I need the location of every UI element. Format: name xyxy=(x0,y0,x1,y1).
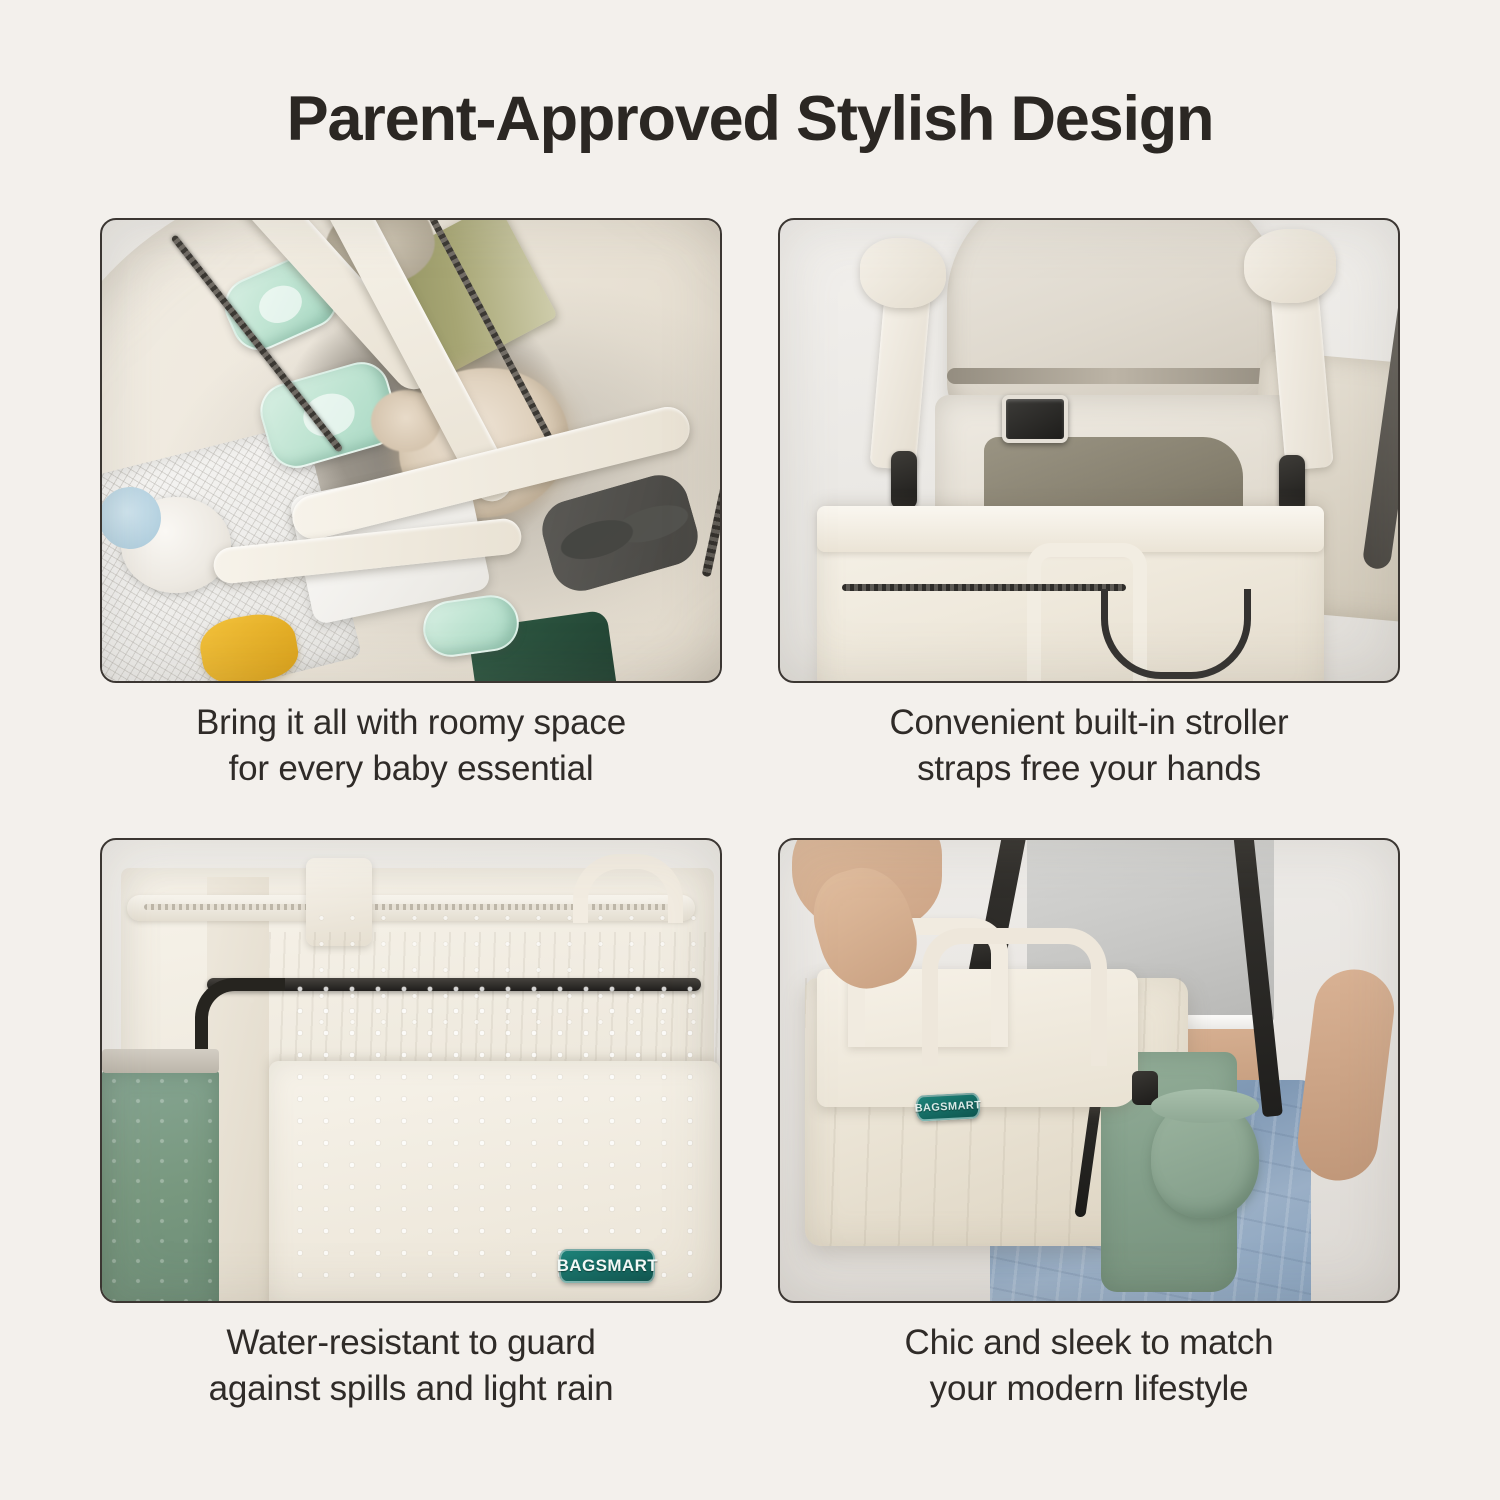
water-droplets-lower xyxy=(287,978,707,1282)
feature-image-chic-sleek: BAGSMART xyxy=(778,838,1400,1303)
strap-knot-left xyxy=(860,238,946,308)
feature-card-roomy-space: Bring it all with roomy space for every … xyxy=(100,218,722,683)
caption-line-2: straps free your hands xyxy=(748,746,1430,792)
bagsmart-logo-text: BAGSMART xyxy=(557,1256,658,1276)
strap-clip-left xyxy=(891,451,917,509)
caption-line-1: Convenient built-in stroller xyxy=(748,700,1430,746)
caption-line-1: Chic and sleek to match xyxy=(748,1320,1430,1366)
feature-caption-roomy-space: Bring it all with roomy space for every … xyxy=(70,700,752,791)
feature-caption-chic-sleek: Chic and sleek to match your modern life… xyxy=(748,1320,1430,1411)
caption-line-1: Bring it all with roomy space xyxy=(70,700,752,746)
diaper-bag-zipper xyxy=(842,584,1126,591)
feature-image-roomy-space xyxy=(100,218,722,683)
feature-card-water-resistant: BAGSMART Water-resistant to guard agains… xyxy=(100,838,722,1303)
feature-card-stroller-straps: Convenient built-in stroller straps free… xyxy=(778,218,1400,683)
green-panel-droplets xyxy=(102,1071,219,1304)
stroller-buckle xyxy=(1002,395,1068,443)
bagsmart-logo-patch: BAGSMART xyxy=(915,1092,980,1121)
bagsmart-logo-patch: BAGSMART xyxy=(559,1249,655,1283)
caption-line-2: for every baby essential xyxy=(70,746,752,792)
caption-line-1: Water-resistant to guard xyxy=(70,1320,752,1366)
model-arm-right xyxy=(1293,965,1398,1185)
feature-image-water-resistant: BAGSMART xyxy=(100,838,722,1303)
page-title: Parent-Approved Stylish Design xyxy=(0,86,1500,152)
strap-clip-right xyxy=(1279,455,1305,513)
bottle-pouch-lid xyxy=(1151,1089,1259,1123)
caption-line-2: your modern lifestyle xyxy=(748,1366,1430,1412)
strap-knot-right xyxy=(1244,229,1336,303)
bear-rattle-toy xyxy=(121,497,231,593)
infographic-page: Parent-Approved Stylish Design xyxy=(0,0,1500,1500)
diaper-bag-cord xyxy=(1101,589,1251,679)
bag-handle-2 xyxy=(922,928,1107,1066)
feature-grid: Bring it all with roomy space for every … xyxy=(100,218,1400,1303)
feature-caption-stroller-straps: Convenient built-in stroller straps free… xyxy=(748,700,1430,791)
bagsmart-logo-text: BAGSMART xyxy=(914,1099,981,1114)
bottle-cap-1 xyxy=(252,279,307,330)
caption-line-2: against spills and light rain xyxy=(70,1366,752,1412)
feature-image-stroller-straps xyxy=(778,218,1400,683)
feature-card-chic-sleek: BAGSMART Chic and sleek to match your mo… xyxy=(778,838,1400,1303)
feature-caption-water-resistant: Water-resistant to guard against spills … xyxy=(70,1320,752,1411)
stroller-hood-rim xyxy=(947,368,1281,384)
